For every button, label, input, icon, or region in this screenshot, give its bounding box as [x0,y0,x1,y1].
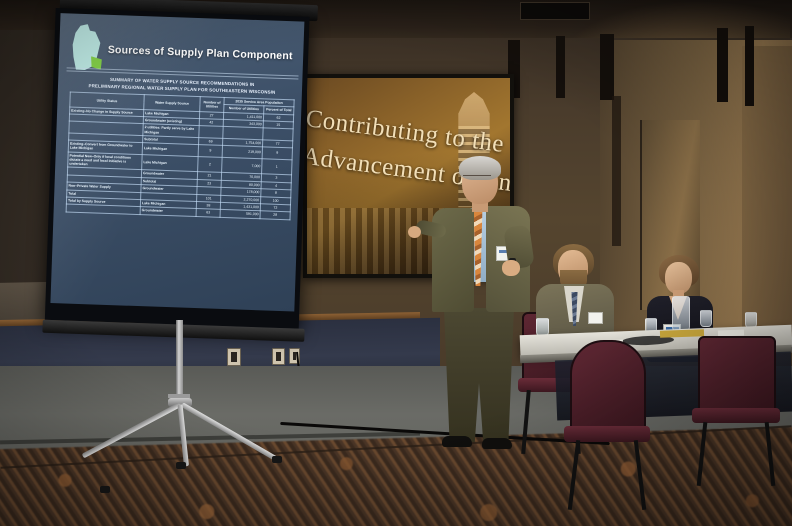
tripod-center-post [176,320,183,402]
wall-pilaster [600,34,614,100]
chair-back [570,340,646,436]
water-pitcher[interactable] [672,296,690,332]
projected-slide: Sources of Supply Plan Component SUMMARY… [50,13,304,311]
banquet-chair[interactable] [560,340,656,500]
tripod-foot [272,456,282,463]
conference-room-photo: Contributing to the Advancement of Knowl… [0,0,792,526]
shoe [482,438,512,449]
chair-leg [765,422,776,486]
wall-outlet[interactable] [272,348,285,365]
wall-pilaster [745,26,754,106]
wall-pilaster [612,96,621,246]
name-badge [588,312,603,324]
chair-seat [692,408,780,423]
left-hand [408,226,421,238]
wall-outlet[interactable] [227,348,241,366]
water-glass[interactable] [700,310,712,327]
tripod-foot [176,462,186,469]
wall-pilaster [717,28,728,102]
right-hand [502,260,520,276]
banquet-chair[interactable] [690,336,786,486]
chair-back [698,336,776,418]
screen-glare [50,13,304,311]
standing-presenter [410,160,550,490]
shoe [442,436,472,447]
projection-screen: Sources of Supply Plan Component SUMMARY… [44,0,319,339]
chair-leg [568,440,581,510]
chair-leg [697,422,708,486]
wall-pilaster [556,36,565,98]
trousers [444,308,514,442]
eyeglasses-icon [463,175,491,182]
chair-leg [634,440,647,510]
tripod-foot [100,486,110,493]
